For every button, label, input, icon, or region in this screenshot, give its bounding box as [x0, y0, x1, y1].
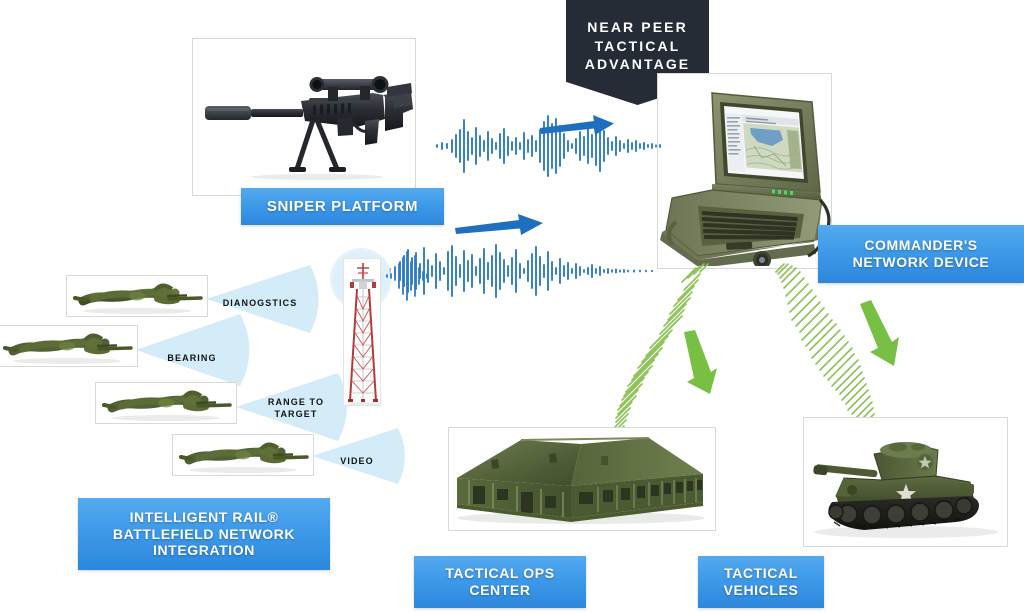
label-tactical-ops-line-2: CENTER — [445, 582, 554, 599]
label-commanders-line-1: COMMANDER'S — [853, 237, 990, 254]
banner-line-2: TACTICAL — [585, 37, 691, 55]
tower-waveform — [385, 250, 431, 302]
cone-label-bearing: BEARING — [152, 340, 232, 364]
label-tactical-vehicles: TACTICAL VEHICLES — [698, 556, 824, 608]
prone-soldier-image — [1, 329, 135, 365]
prone-soldier-image — [177, 438, 311, 474]
soldier-image-frame-4 — [172, 434, 314, 476]
ops-center-tent-image — [453, 432, 711, 528]
commanders-device-image-frame — [657, 73, 832, 269]
uplink-arrow-top — [540, 112, 616, 138]
label-intelligent-rail-line-1: INTELLIGENT RAIL® — [113, 509, 295, 526]
label-intelligent-rail-integration: INTELLIGENT RAIL® BATTLEFIELD NETWORK IN… — [78, 498, 330, 570]
label-tactical-ops-center: TACTICAL OPS CENTER — [414, 556, 586, 608]
uplink-arrow-lower — [455, 210, 547, 238]
radio-tower-image-frame — [343, 258, 381, 406]
downlink-arrow-vehicles — [858, 300, 906, 368]
cone-label-range-to-target: RANGE TO TARGET — [252, 384, 340, 420]
cone-label-diagnostics: DIANOGSTICS — [212, 285, 308, 309]
soldier-image-frame-1 — [66, 275, 208, 317]
label-tactical-ops-line-1: TACTICAL OPS — [445, 565, 554, 582]
cone-label-range-to-target-text: RANGE TO TARGET — [268, 397, 324, 419]
infographic-canvas: SNIPER PLATFORM NEAR PEER TACTICAL ADVAN… — [0, 0, 1024, 613]
label-tactical-vehicles-line-2: VEHICLES — [724, 582, 799, 599]
banner-line-1: NEAR PEER — [585, 18, 691, 36]
tactical-vehicle-image-frame — [803, 417, 1008, 547]
label-intelligent-rail-line-2: BATTLEFIELD NETWORK — [113, 526, 295, 543]
radio-tower-image — [344, 259, 381, 406]
label-sniper-platform: SNIPER PLATFORM — [241, 188, 444, 225]
downlink-arrow-ops-center — [678, 330, 722, 396]
label-sniper-platform-text: SNIPER PLATFORM — [267, 198, 418, 216]
rugged-laptop-image — [657, 80, 832, 266]
cone-label-bearing-text: BEARING — [167, 353, 216, 363]
label-tactical-vehicles-line-1: TACTICAL — [724, 565, 799, 582]
sniper-rifle-image — [197, 57, 413, 181]
soldier-image-frame-3 — [95, 382, 237, 424]
cone-label-diagnostics-text: DIANOGSTICS — [223, 298, 298, 308]
prone-soldier-image — [100, 386, 234, 422]
sniper-platform-image-frame — [192, 38, 416, 196]
prone-soldier-image — [71, 279, 205, 315]
cone-label-video-text: VIDEO — [340, 456, 374, 466]
label-intelligent-rail-line-3: INTEGRATION — [113, 542, 295, 559]
ops-center-image-frame — [448, 427, 716, 531]
soldier-image-frame-2 — [0, 325, 138, 367]
cone-label-video: VIDEO — [326, 443, 388, 467]
sherman-tank-image — [810, 428, 1004, 540]
banner-line-3: ADVANTAGE — [585, 55, 691, 73]
